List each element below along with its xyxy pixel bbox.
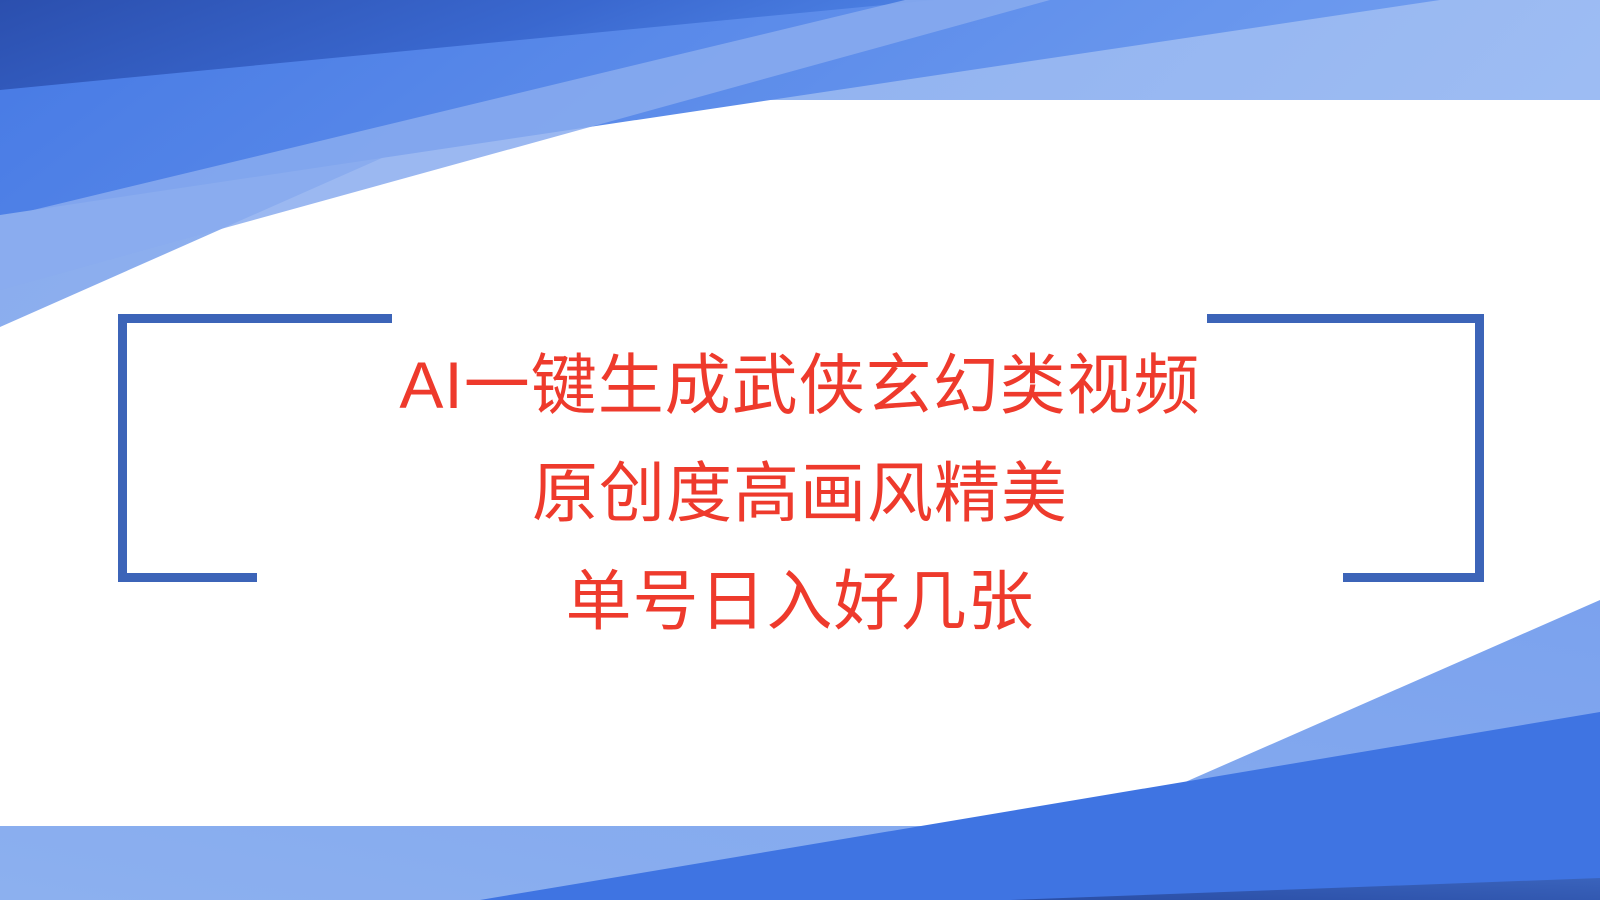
headline-line-2: 原创度高画风精美 [0, 460, 1600, 526]
promo-banner: AI一键生成武侠玄幻类视频 原创度高画风精美 单号日入好几张 [0, 0, 1600, 900]
headline-block: AI一键生成武侠玄幻类视频 原创度高画风精美 单号日入好几张 [0, 352, 1600, 634]
headline-line-1: AI一键生成武侠玄幻类视频 [0, 352, 1600, 418]
headline-line-3: 单号日入好几张 [0, 568, 1600, 634]
